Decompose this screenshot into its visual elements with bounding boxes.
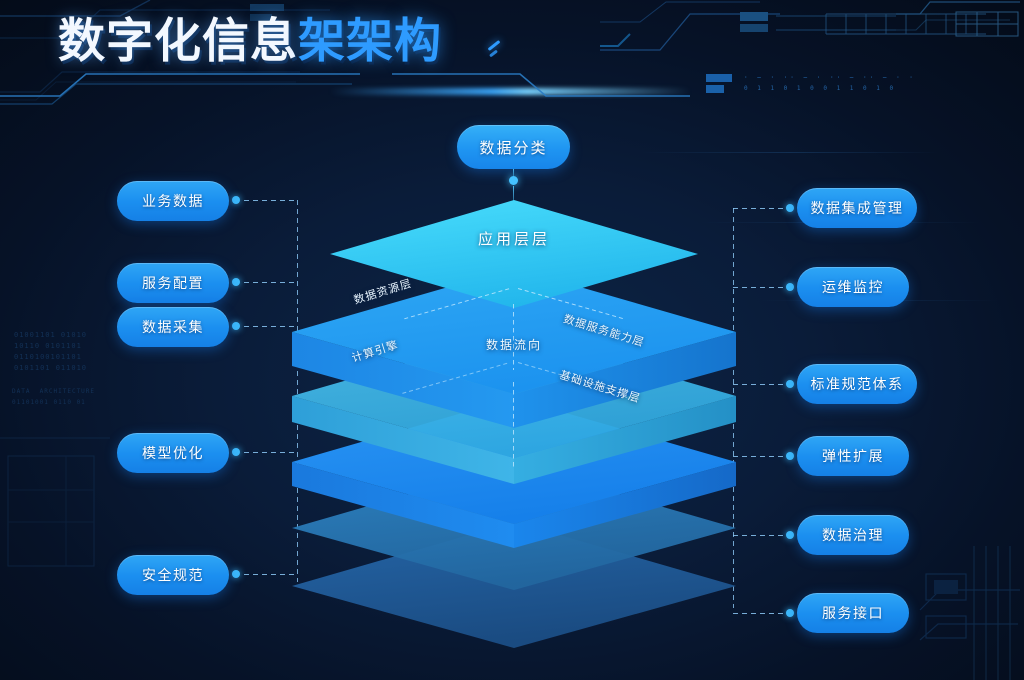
header-deco-dots: · — · ·· — · ·· — ·· — · · <box>744 74 916 81</box>
left-dot-3-icon <box>232 322 240 330</box>
node-right-1-label: 数据集成管理 <box>811 198 904 218</box>
page-title: 数字化信息架架构 <box>58 14 442 70</box>
node-left-4-label: 模型优化 <box>142 443 204 463</box>
right-dot-5-icon <box>786 531 794 539</box>
node-left-5[interactable]: 安全规范 <box>117 555 229 595</box>
right-dot-6-icon <box>786 609 794 617</box>
right-branch-1 <box>733 208 789 209</box>
node-right-6-label: 服务接口 <box>822 603 884 623</box>
page-title-white: 数字化信息 <box>58 14 298 69</box>
node-right-2-label: 运维监控 <box>822 277 884 297</box>
right-branch-5 <box>733 535 789 536</box>
left-branch-3 <box>244 326 298 327</box>
right-dot-3-icon <box>786 380 794 388</box>
node-right-5[interactable]: 数据治理 <box>797 515 909 555</box>
right-branch-6 <box>733 613 789 614</box>
node-right-3[interactable]: 标准规范体系 <box>797 364 917 404</box>
node-left-1-label: 业务数据 <box>142 191 204 211</box>
title-accent-slash2-icon <box>489 50 498 58</box>
header-chip-2 <box>706 85 724 93</box>
background-code-left-2: DATA ARCHITECTURE 01101001 0110 01 <box>12 386 95 408</box>
top-node-dot-icon <box>509 176 518 185</box>
node-top-label: 数据分类 <box>479 137 547 158</box>
background-code-left: 01001101 01010 10110 0101101 01101001011… <box>14 330 87 374</box>
left-branch-2 <box>244 282 298 283</box>
node-left-3-label: 数据采集 <box>142 317 204 337</box>
right-dot-4-icon <box>786 452 794 460</box>
header-chip-1 <box>706 74 732 82</box>
node-right-4-label: 弹性扩展 <box>822 446 884 466</box>
title-accent-slash-icon <box>488 40 501 51</box>
header-underline <box>0 72 700 112</box>
left-branch-5 <box>244 574 298 575</box>
left-branch-1 <box>244 200 298 201</box>
deco-hline-1 <box>640 152 940 153</box>
node-left-5-label: 安全规范 <box>142 565 204 585</box>
left-branch-4 <box>244 452 298 453</box>
node-left-3[interactable]: 数据采集 <box>117 307 229 347</box>
circuit-left-panel-icon <box>0 430 120 650</box>
left-dot-5-icon <box>232 570 240 578</box>
pyramid-spine-lower <box>513 382 514 470</box>
right-branch-3 <box>733 384 789 385</box>
header: 数字化信息架架构 · — · ·· — · ·· — ·· — · · 0 1 … <box>0 0 1024 112</box>
infographic-canvas: 01001101 01010 10110 0101101 01101001011… <box>0 0 1024 680</box>
node-left-2[interactable]: 服务配置 <box>117 263 229 303</box>
pyramid-top-label: 应用层层 <box>292 228 736 249</box>
node-top-data-classification[interactable]: 数据分类 <box>457 125 570 169</box>
node-right-2[interactable]: 运维监控 <box>797 267 909 307</box>
left-dot-4-icon <box>232 448 240 456</box>
page-title-blue: 架架构 <box>298 14 442 69</box>
left-dot-2-icon <box>232 278 240 286</box>
node-right-1[interactable]: 数据集成管理 <box>797 188 917 228</box>
node-right-3-label: 标准规范体系 <box>811 374 904 394</box>
left-dot-1-icon <box>232 196 240 204</box>
layered-pyramid-diagram: 应用层层 数据流向 数据资源层 数据服务能力层 计算引擎 基础设施支撑层 <box>292 192 736 648</box>
node-right-6[interactable]: 服务接口 <box>797 593 909 633</box>
node-left-2-label: 服务配置 <box>142 273 204 293</box>
right-branch-4 <box>733 456 789 457</box>
node-right-5-label: 数据治理 <box>822 525 884 545</box>
node-left-4[interactable]: 模型优化 <box>117 433 229 473</box>
node-left-1[interactable]: 业务数据 <box>117 181 229 221</box>
header-deco-code: 0 1 1 0 1 0 0 1 1 0 1 0 <box>744 85 896 92</box>
right-dot-2-icon <box>786 283 794 291</box>
node-right-4[interactable]: 弹性扩展 <box>797 436 909 476</box>
right-dot-1-icon <box>786 204 794 212</box>
right-branch-2 <box>733 287 789 288</box>
